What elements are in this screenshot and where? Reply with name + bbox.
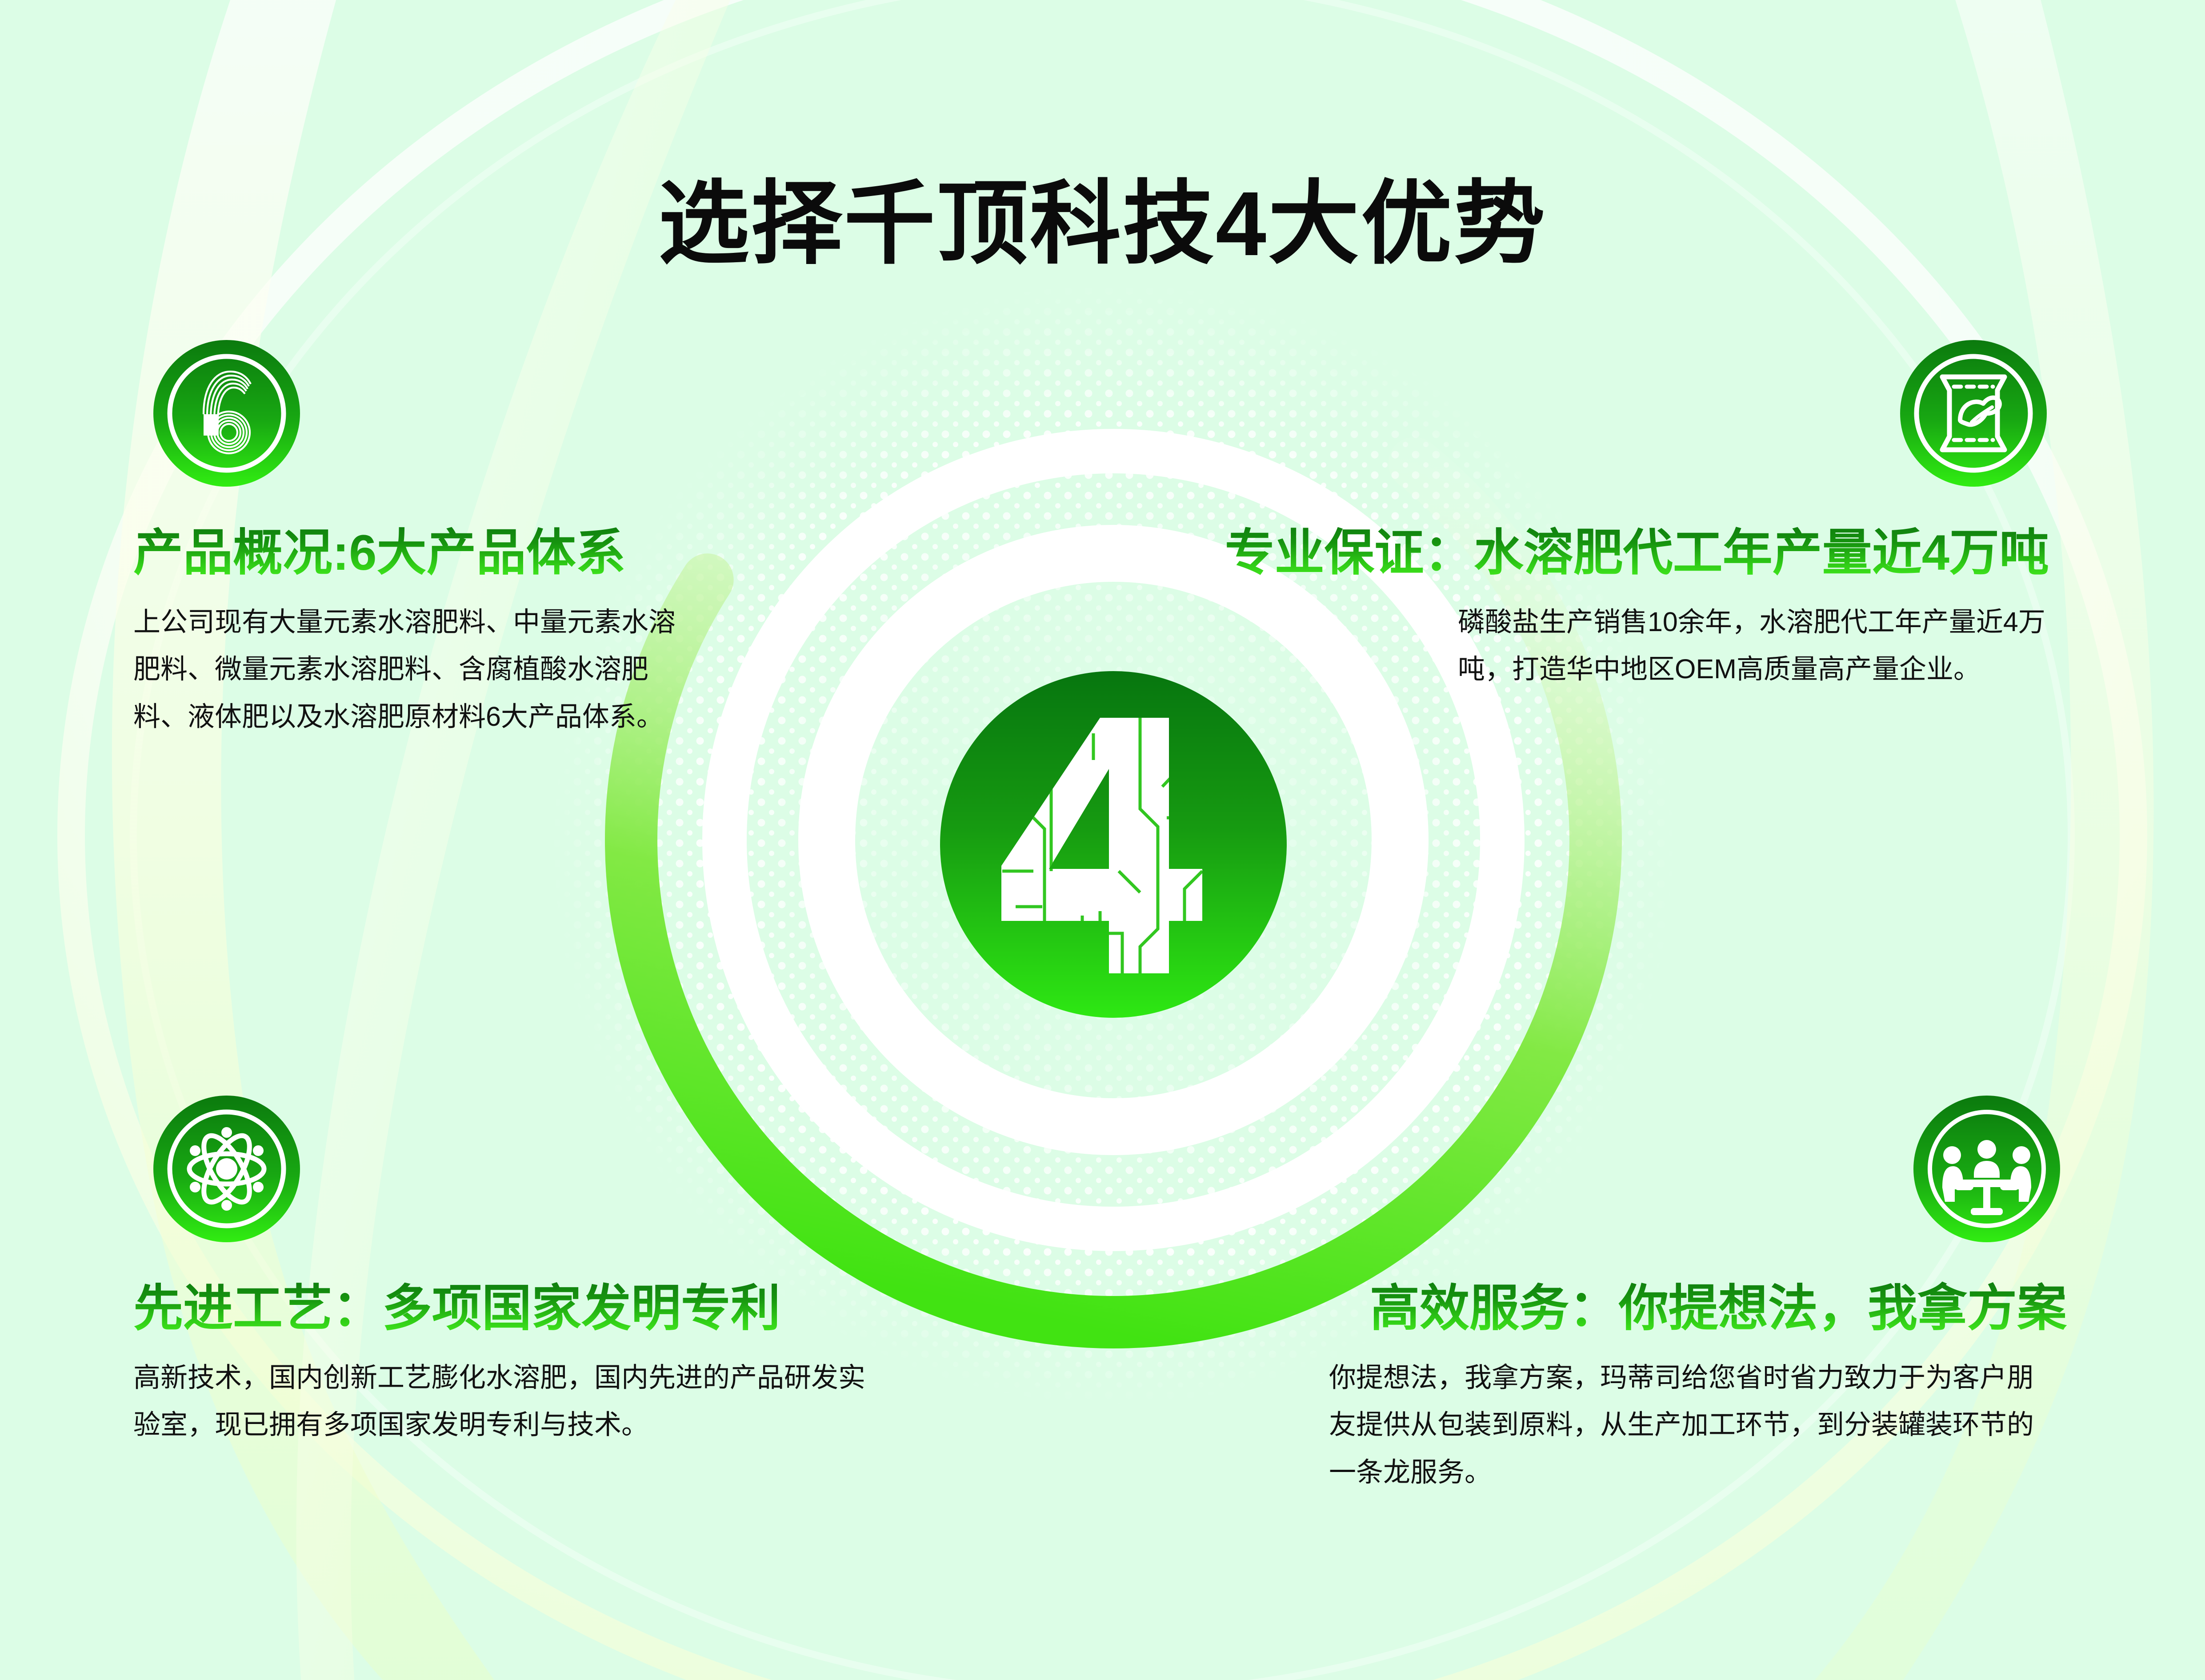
fertilizer-bag-icon (1898, 338, 2049, 489)
advantage-card-bottom-left: 先进工艺：多项国家发明专利 高新技术，国内创新工艺膨化水溶肥，国内先进的产品研发… (133, 1093, 889, 1448)
atom-icon (151, 1093, 302, 1244)
advantage-heading: 产品概况:6大产品体系 (133, 524, 720, 581)
advantage-body: 上公司现有大量元素水溶肥料、中量元素水溶肥料、微量元素水溶肥料、含腐植酸水溶肥料… (133, 598, 698, 740)
meeting-table-people-icon (1911, 1093, 2062, 1244)
advantage-body: 你提想法，我拿方案，玛蒂司给您省时省力致力于为客户朋友提供从包装到原料，从生产加… (1329, 1354, 2058, 1496)
advantage-card-top-left: 产品概况:6大产品体系 上公司现有大量元素水溶肥料、中量元素水溶肥料、微量元素水… (133, 338, 720, 740)
advantage-card-top-right: 专业保证：水溶肥代工年产量近4万吨 磷酸盐生产销售10余年，水溶肥代工年产量近4… (1196, 338, 2049, 693)
advantage-body: 高新技术，国内创新工艺膨化水溶肥，国内先进的产品研发实验室，现已拥有多项国家发明… (133, 1354, 880, 1449)
page-title: 选择千顶科技4大优势 (0, 150, 2205, 282)
advantage-card-bottom-right: 高效服务：你提想法，我拿方案 你提想法，我拿方案，玛蒂司给您省时省力致力于为客户… (1311, 1093, 2067, 1496)
advantage-heading: 专业保证：水溶肥代工年产量近4万吨 (1196, 524, 2049, 581)
number-six-spiral-icon (151, 338, 302, 489)
advantage-body: 磷酸盐生产销售10余年，水溶肥代工年产量近4万吨，打造华中地区OEM高质量高产量… (1458, 598, 2049, 693)
advantage-heading: 高效服务：你提想法，我拿方案 (1311, 1280, 2067, 1337)
advantage-heading: 先进工艺：多项国家发明专利 (133, 1280, 889, 1337)
